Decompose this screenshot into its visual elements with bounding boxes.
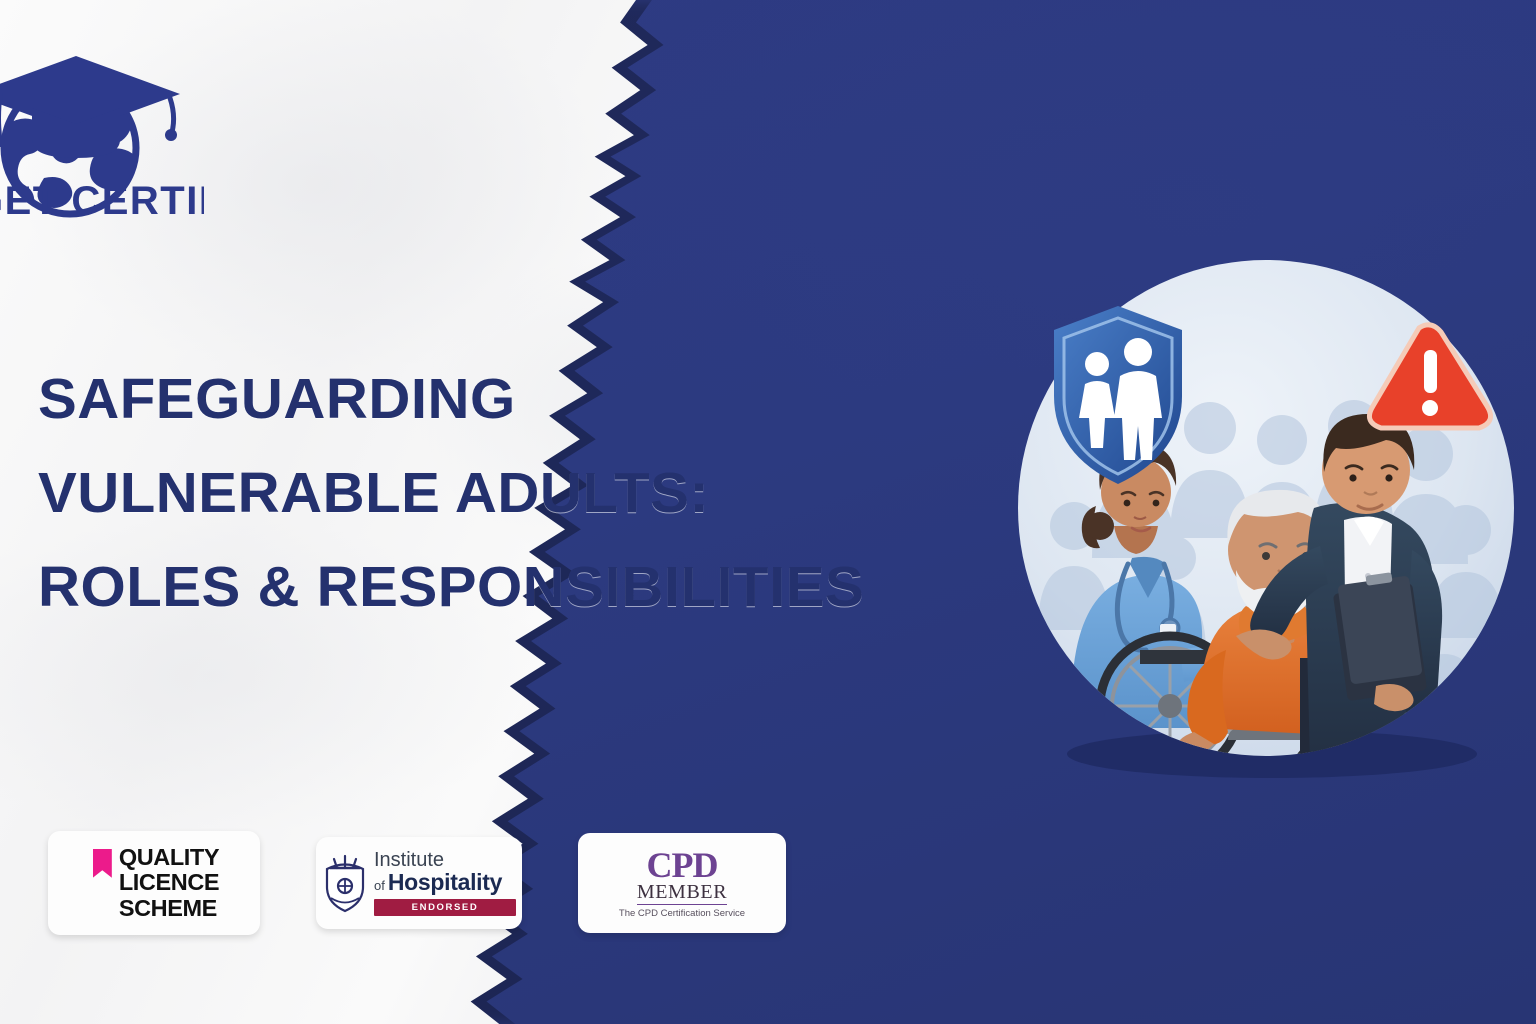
safeguarding-illustration bbox=[1014, 258, 1519, 798]
accreditation-badges: QUALITY LICENCE SCHEME Institute bbox=[48, 831, 786, 935]
cpd-acronym: CPD bbox=[647, 848, 718, 882]
ioh-of: of bbox=[374, 878, 385, 893]
cpd-member-label: MEMBER bbox=[637, 882, 727, 905]
brand-logo[interactable]: GET CERTIFY bbox=[0, 28, 204, 228]
poster-canvas: GET CERTIFY SAFEGUARDING VULNERABLE ADUL… bbox=[0, 0, 1536, 1024]
qls-line-1: QUALITY bbox=[119, 845, 219, 871]
badge-cpd-member[interactable]: CPD MEMBER The CPD Certification Service bbox=[578, 833, 786, 933]
title-line-1: SAFEGUARDING bbox=[38, 352, 834, 446]
bookmark-icon bbox=[93, 849, 112, 878]
illustration-artwork bbox=[1014, 258, 1519, 798]
logo-wordmark: GET CERTIFY bbox=[0, 179, 204, 223]
badge-quality-licence-scheme[interactable]: QUALITY LICENCE SCHEME bbox=[48, 831, 260, 935]
clipboard bbox=[1333, 572, 1427, 701]
ioh-line-2: Hospitality bbox=[388, 870, 502, 894]
heraldic-crest-icon bbox=[322, 853, 368, 913]
qls-line-2: LICENCE bbox=[119, 870, 219, 896]
ioh-endorsed-banner: ENDORSED bbox=[374, 899, 516, 916]
ioh-line-1: Institute bbox=[374, 850, 444, 870]
cpd-subtitle: The CPD Certification Service bbox=[597, 908, 767, 919]
graduation-cap-globe-icon: GET CERTIFY bbox=[0, 28, 204, 228]
badge-institute-of-hospitality[interactable]: Institute of Hospitality ENDORSED bbox=[316, 837, 522, 929]
title-line-2: VULNERABLE ADULTS: bbox=[38, 446, 834, 540]
page-title: SAFEGUARDING VULNERABLE ADULTS: ROLES & … bbox=[38, 352, 818, 634]
title-line-3: ROLES & RESPONSIBILITIES bbox=[38, 540, 834, 634]
qls-line-3: SCHEME bbox=[119, 896, 219, 922]
